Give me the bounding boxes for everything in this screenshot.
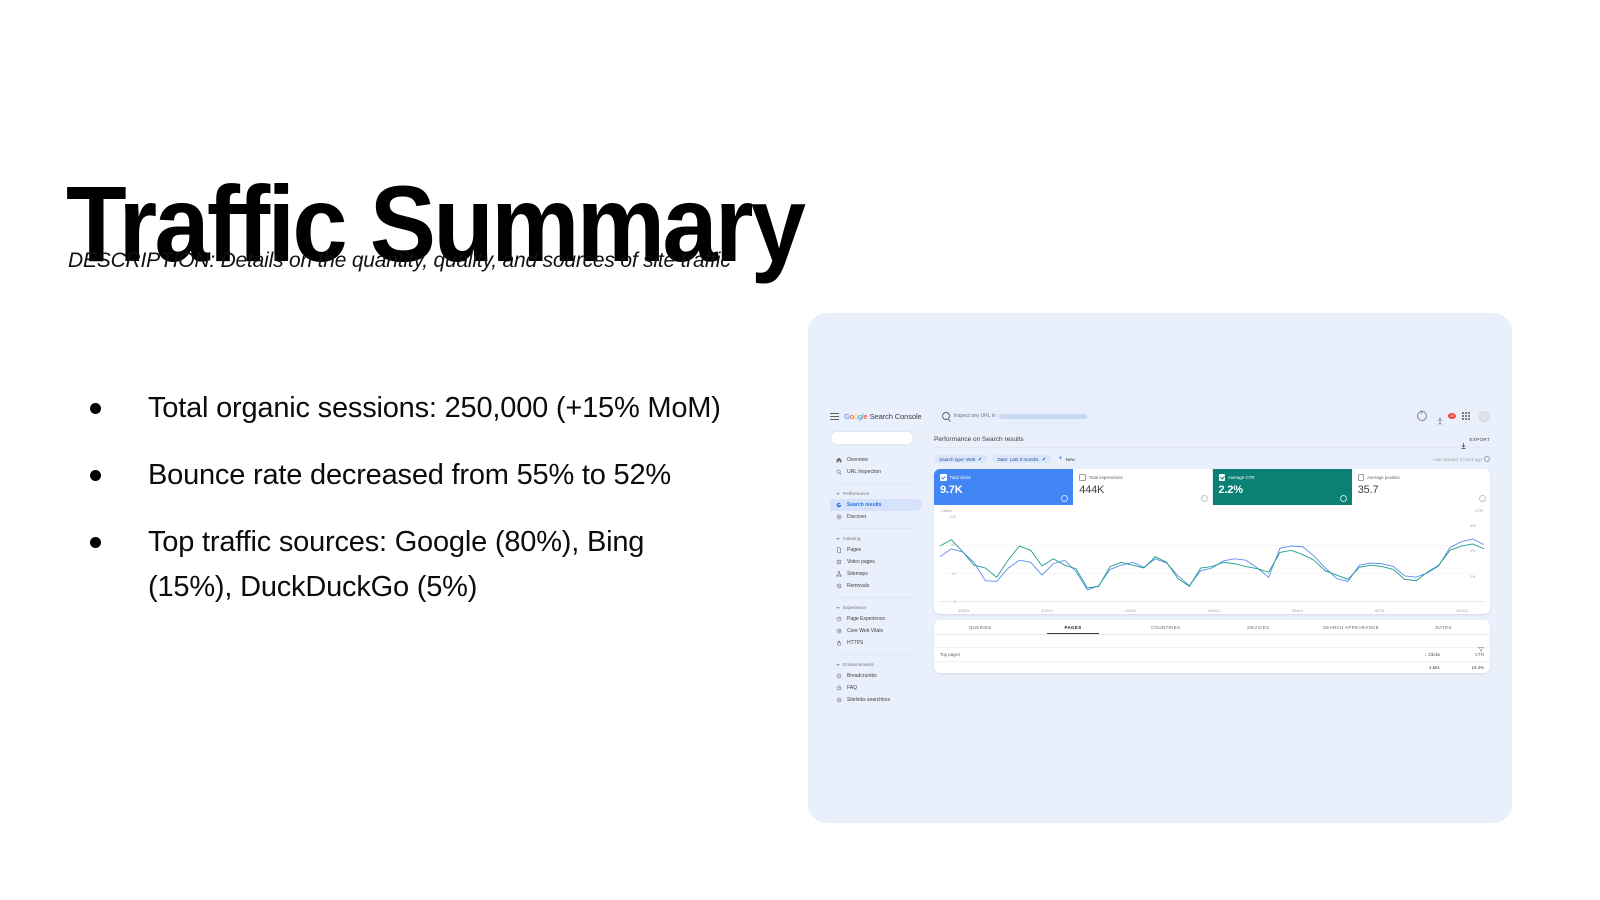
table-row[interactable]: 4,561 19.4% [934,662,1490,673]
column-header-pages: Top pages [940,652,960,657]
discover-icon [836,514,842,520]
export-button[interactable]: EXPORT [1461,436,1490,442]
chevron-down-icon [836,493,840,495]
x-axis-ticks: 3/29/244/12/244/26/245/10/245/24/246/7/2… [958,609,1468,613]
x-tick: 4/12/24 [1041,609,1052,613]
sidebar-item-search-results[interactable]: Search results [830,499,922,511]
search-icon [942,412,950,420]
bullet-list: Total organic sessions: 250,000 (+15% Mo… [86,386,726,632]
metric-checkbox[interactable] [940,474,947,481]
y2-axis-title: CTR [1475,508,1483,513]
metric-value: 444K [1079,484,1205,496]
filter-icon[interactable] [1478,639,1484,644]
home-icon [836,457,842,463]
sidebar-item-removals[interactable]: Removals [830,580,922,592]
sidebar-item-label: Pages [847,547,861,553]
last-updated-text: Last updated: 3 hours ago [1433,456,1490,462]
performance-title: Performance on Search results [934,436,1024,443]
sidebar-item-https[interactable]: HTTPS [830,637,922,649]
sidebar-item-pages[interactable]: Pages [830,544,922,556]
sidebar-item-core-web-vitals[interactable]: Core Web Vitals [830,625,922,637]
tab-pages[interactable]: PAGES [1027,620,1120,634]
export-label: EXPORT [1469,437,1490,442]
chevron-down-icon [836,538,840,540]
sitemap-icon [836,571,842,577]
edit-icon [1042,457,1046,461]
sidebar-item-url-inspection[interactable]: URL Inspection [830,466,922,478]
cell-clicks: 4,561 [1429,665,1440,670]
google-g-icon [836,502,842,508]
tab-queries[interactable]: QUERIES [934,620,1027,634]
avatar[interactable] [1479,411,1490,422]
list-item: Total organic sessions: 250,000 (+15% Mo… [86,386,726,431]
metric-label: Average CTR [1228,475,1255,480]
x-tick: 5/10/24 [1208,609,1219,613]
sidebar-item-label: Breadcrumbs [847,673,877,679]
column-header-ctr[interactable]: CTR [1440,652,1484,657]
y-axis-title: Clicks [941,508,952,513]
metric-checkbox[interactable] [1079,474,1086,481]
chevron-down-icon [836,664,840,666]
page-icon [836,547,842,553]
sidebar-item-label: URL Inspection [847,469,881,475]
removals-icon [836,583,842,589]
metric-value: 35.7 [1358,484,1484,496]
x-tick: 4/26/24 [1125,609,1136,613]
metric-label: Total clicks [950,475,971,480]
dimension-table-card: QUERIESPAGESCOUNTRIESDEVICESSEARCH APPEA… [934,620,1490,673]
divider [836,597,916,598]
lock-icon [836,640,842,646]
sidebar-group-experience[interactable]: Experience [836,605,922,610]
tab-countries[interactable]: COUNTRIES [1119,620,1212,634]
sidebar-item-video-pages[interactable]: Video pages [830,556,922,568]
download-icon [1461,436,1466,442]
sitelinks-icon [836,697,842,703]
sidebar-item-label: Core Web Vitals [847,628,883,634]
search-console-screenshot: GoogleSearch Console Inspect any URL in … [808,313,1512,823]
divider [836,483,916,484]
x-tick: 6/7/24 [1375,609,1384,613]
property-selector[interactable] [830,431,914,445]
performance-chart-card: Total clicks9.7KTotal impressions444KAve… [934,469,1490,614]
sidebar-group-performance[interactable]: Performance [836,491,922,496]
sidebar-item-sitemaps[interactable]: Sitemaps [830,568,922,580]
sidebar-item-faq[interactable]: FAQ [830,682,922,694]
cell-ctr: 19.4% [1440,665,1484,670]
divider [836,654,916,655]
slide-description: DESCRIPTION: Details on the quantity, qu… [68,249,731,273]
sidebar-item-label: Sitelinks searchbox [847,697,890,703]
chart-line-ctr [940,540,1484,588]
add-filter-button[interactable]: + New [1056,457,1075,462]
edit-icon [978,457,982,461]
close-icon[interactable] [1479,495,1486,502]
sort-descending-icon: ↓ [1424,652,1426,657]
sidebar-item-discover[interactable]: Discover [830,511,922,523]
sidebar-item-label: Discover [847,514,866,520]
column-header-clicks[interactable]: ↓ Clicks [1424,652,1440,657]
filter-chip-date[interactable]: Date: Last 3 months [992,455,1050,463]
sidebar-group-enhancements[interactable]: Enhancements [836,662,922,667]
sidebar-item-overview[interactable]: Overview [830,454,922,466]
sidebar-item-label: Removals [847,583,869,589]
chart-plot-area [940,517,1484,602]
accessibility-icon[interactable] [1436,412,1444,420]
sidebar-item-label: HTTPS [847,640,863,646]
filter-chip-search-type[interactable]: Search type: Web [934,455,987,463]
tab-dates[interactable]: DATES [1397,620,1490,634]
divider [836,528,916,529]
metric-label: Total impressions [1089,475,1123,480]
tab-devices[interactable]: DEVICES [1212,620,1305,634]
dimension-tabs: QUERIESPAGESCOUNTRIESDEVICESSEARCH APPEA… [934,620,1490,635]
list-item: Top traffic sources: Google (80%), Bing … [86,520,726,610]
sidebar-item-label: Video pages [847,559,875,565]
metric-card-total-clicks[interactable]: Total clicks9.7K [934,469,1073,505]
url-inspection-search-input[interactable]: Inspect any URL in [936,409,1234,423]
sidebar-item-label: Search results [847,502,881,508]
metric-checkbox[interactable] [1358,474,1365,481]
metric-checkbox[interactable] [1219,474,1226,481]
close-icon[interactable] [1061,495,1068,502]
notification-count: 10 [1448,413,1456,419]
x-tick: 6/21/24 [1457,609,1468,613]
list-item: Bounce rate decreased from 55% to 52% [86,453,726,498]
search-icon [836,469,842,475]
sidebar-item-label: Page Experience [847,616,885,622]
vitals-icon [836,628,842,634]
menu-icon[interactable] [830,413,839,420]
search-placeholder: Inspect any URL in [954,413,996,419]
sidebar-item-breadcrumbs[interactable]: Breadcrumbs [830,670,922,682]
filter-chip-row: Search type: Web Date: Last 3 months + N… [934,454,1490,464]
chart-body: Clicks CTR 240160800 6%4%2% 3/29/244/12/… [934,505,1490,614]
divider [934,447,1490,448]
gauge-icon [836,616,842,622]
close-icon[interactable] [1201,495,1208,502]
help-icon[interactable] [1417,411,1427,421]
breadcrumb-icon [836,673,842,679]
sidebar-item-page-experience[interactable]: Page Experience [830,613,922,625]
table-header-row: Top pages ↓ Clicks CTR [934,647,1490,662]
sidebar: OverviewURL InspectionPerformanceSearch … [830,431,922,706]
metric-value: 9.7K [940,484,1066,496]
close-icon[interactable] [1340,495,1347,502]
metric-card-average-position[interactable]: Average position35.7 [1352,469,1490,505]
table-filter-row [934,635,1490,647]
x-tick: 5/24/24 [1292,609,1303,613]
sidebar-item-label: Sitemaps [847,571,868,577]
metric-card-total-impressions[interactable]: Total impressions444K [1073,469,1212,505]
app-header: GoogleSearch Console Inspect any URL in … [830,405,1490,427]
google-search-console-logo: GoogleSearch Console [844,412,922,421]
x-tick: 3/29/24 [958,609,969,613]
video-icon [836,559,842,565]
metric-label: Average position [1367,475,1400,480]
apps-grid-icon[interactable] [1462,412,1470,420]
faq-icon [836,685,842,691]
sidebar-group-indexing[interactable]: Indexing [836,536,922,541]
tab-search-appearance[interactable]: SEARCH APPEARANCE [1305,620,1398,634]
chevron-down-icon [836,607,840,609]
metric-card-average-ctr[interactable]: Average CTR2.2% [1213,469,1352,505]
redacted-property-bar [999,414,1087,419]
metric-value: 2.2% [1219,484,1345,496]
sidebar-item-sitelinks-searchbox[interactable]: Sitelinks searchbox [830,694,922,706]
info-icon [1484,456,1490,462]
sidebar-item-label: Overview [847,457,868,463]
sidebar-item-label: FAQ [847,685,857,691]
main-content: Performance on Search results EXPORT Sea… [934,431,1490,673]
